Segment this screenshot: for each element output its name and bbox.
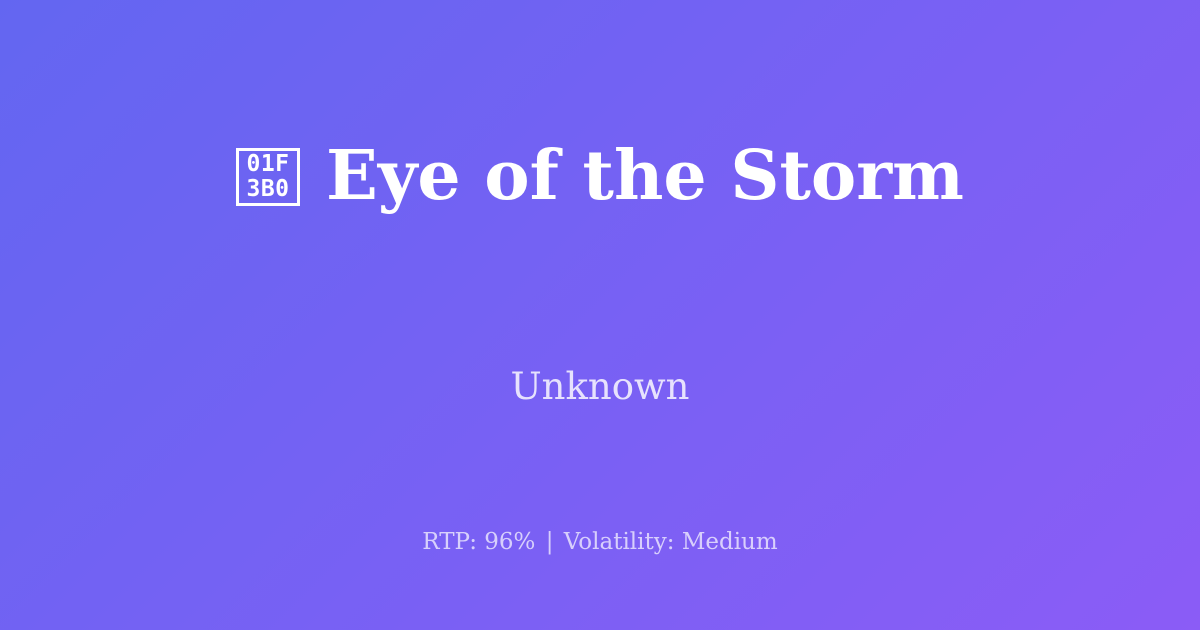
game-preview-card: 01F 3B0 Eye of the Storm Unknown RTP: 96… <box>0 0 1200 630</box>
volatility-value: Medium <box>682 529 778 555</box>
title-row: 01F 3B0 Eye of the Storm <box>0 0 1200 352</box>
meta-separator: | <box>543 529 557 555</box>
provider-label: Unknown <box>0 362 1200 412</box>
page-title: Eye of the Storm <box>326 137 964 215</box>
rtp-value: 96% <box>484 529 535 555</box>
slot-machine-icon: 01F 3B0 <box>236 148 300 206</box>
rtp-label: RTP: <box>422 529 477 555</box>
tofu-hex-row-bottom: 3B0 <box>246 177 289 202</box>
tofu-hex-row-top: 01F <box>246 152 289 177</box>
game-meta: RTP: 96% | Volatility: Medium <box>0 526 1200 558</box>
volatility-label: Volatility: <box>564 529 675 555</box>
